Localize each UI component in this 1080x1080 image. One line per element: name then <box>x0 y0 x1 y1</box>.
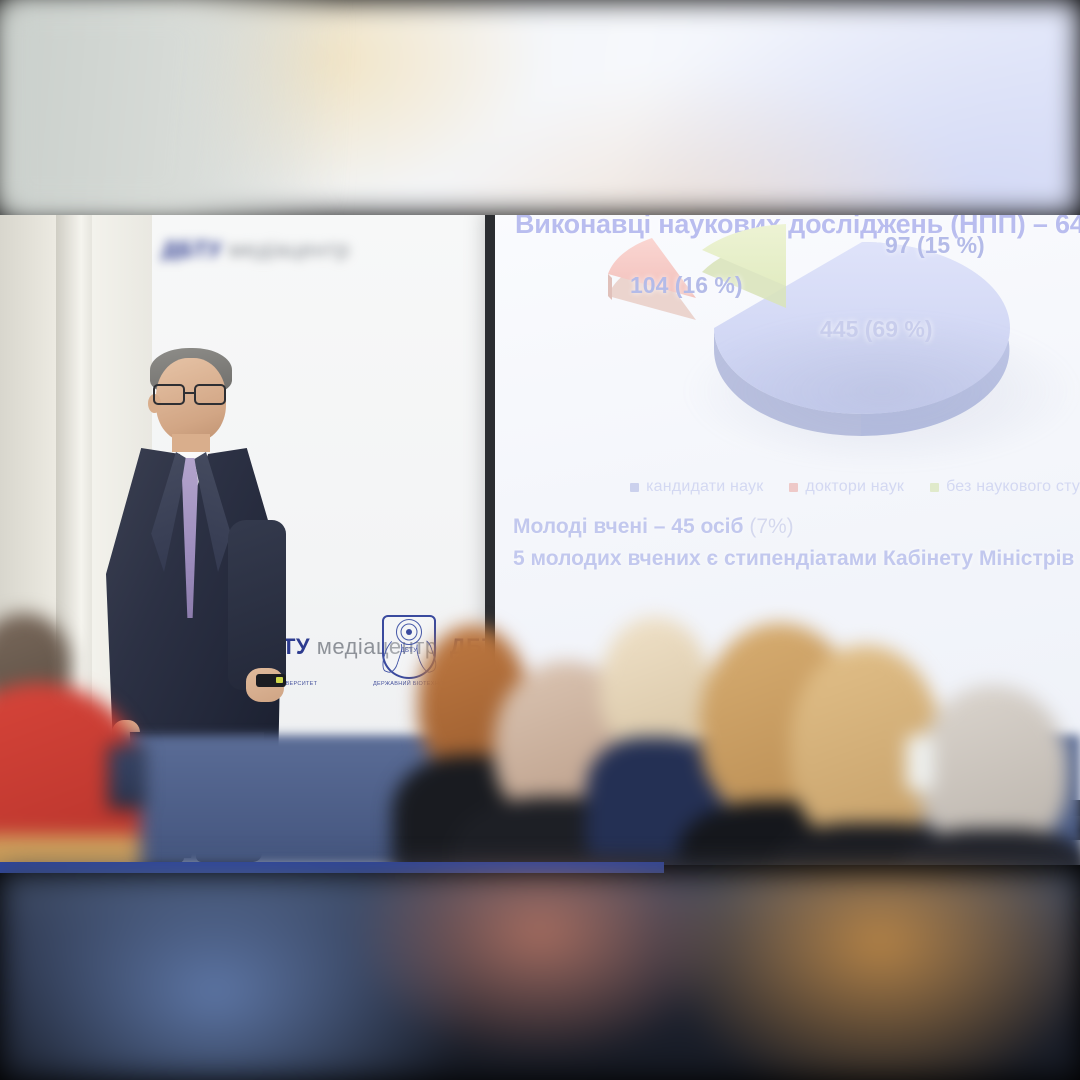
blurred-bottom-fill <box>0 872 1080 1080</box>
screenshot-root: ДБТУ медіацентр ДБТУ ДЕРЖАВНИЙ БІОТЕХНОЛ… <box>0 0 1080 1080</box>
water-bottle <box>906 735 934 791</box>
laptop <box>108 745 144 809</box>
audience-head <box>600 617 710 753</box>
audience <box>0 215 1080 865</box>
conference-photo: ДБТУ медіацентр ДБТУ ДЕРЖАВНИЙ БІОТЕХНОЛ… <box>0 215 1080 865</box>
chair <box>0 835 140 865</box>
blurred-top-fill-left <box>0 0 330 215</box>
audience-head <box>918 685 1068 853</box>
